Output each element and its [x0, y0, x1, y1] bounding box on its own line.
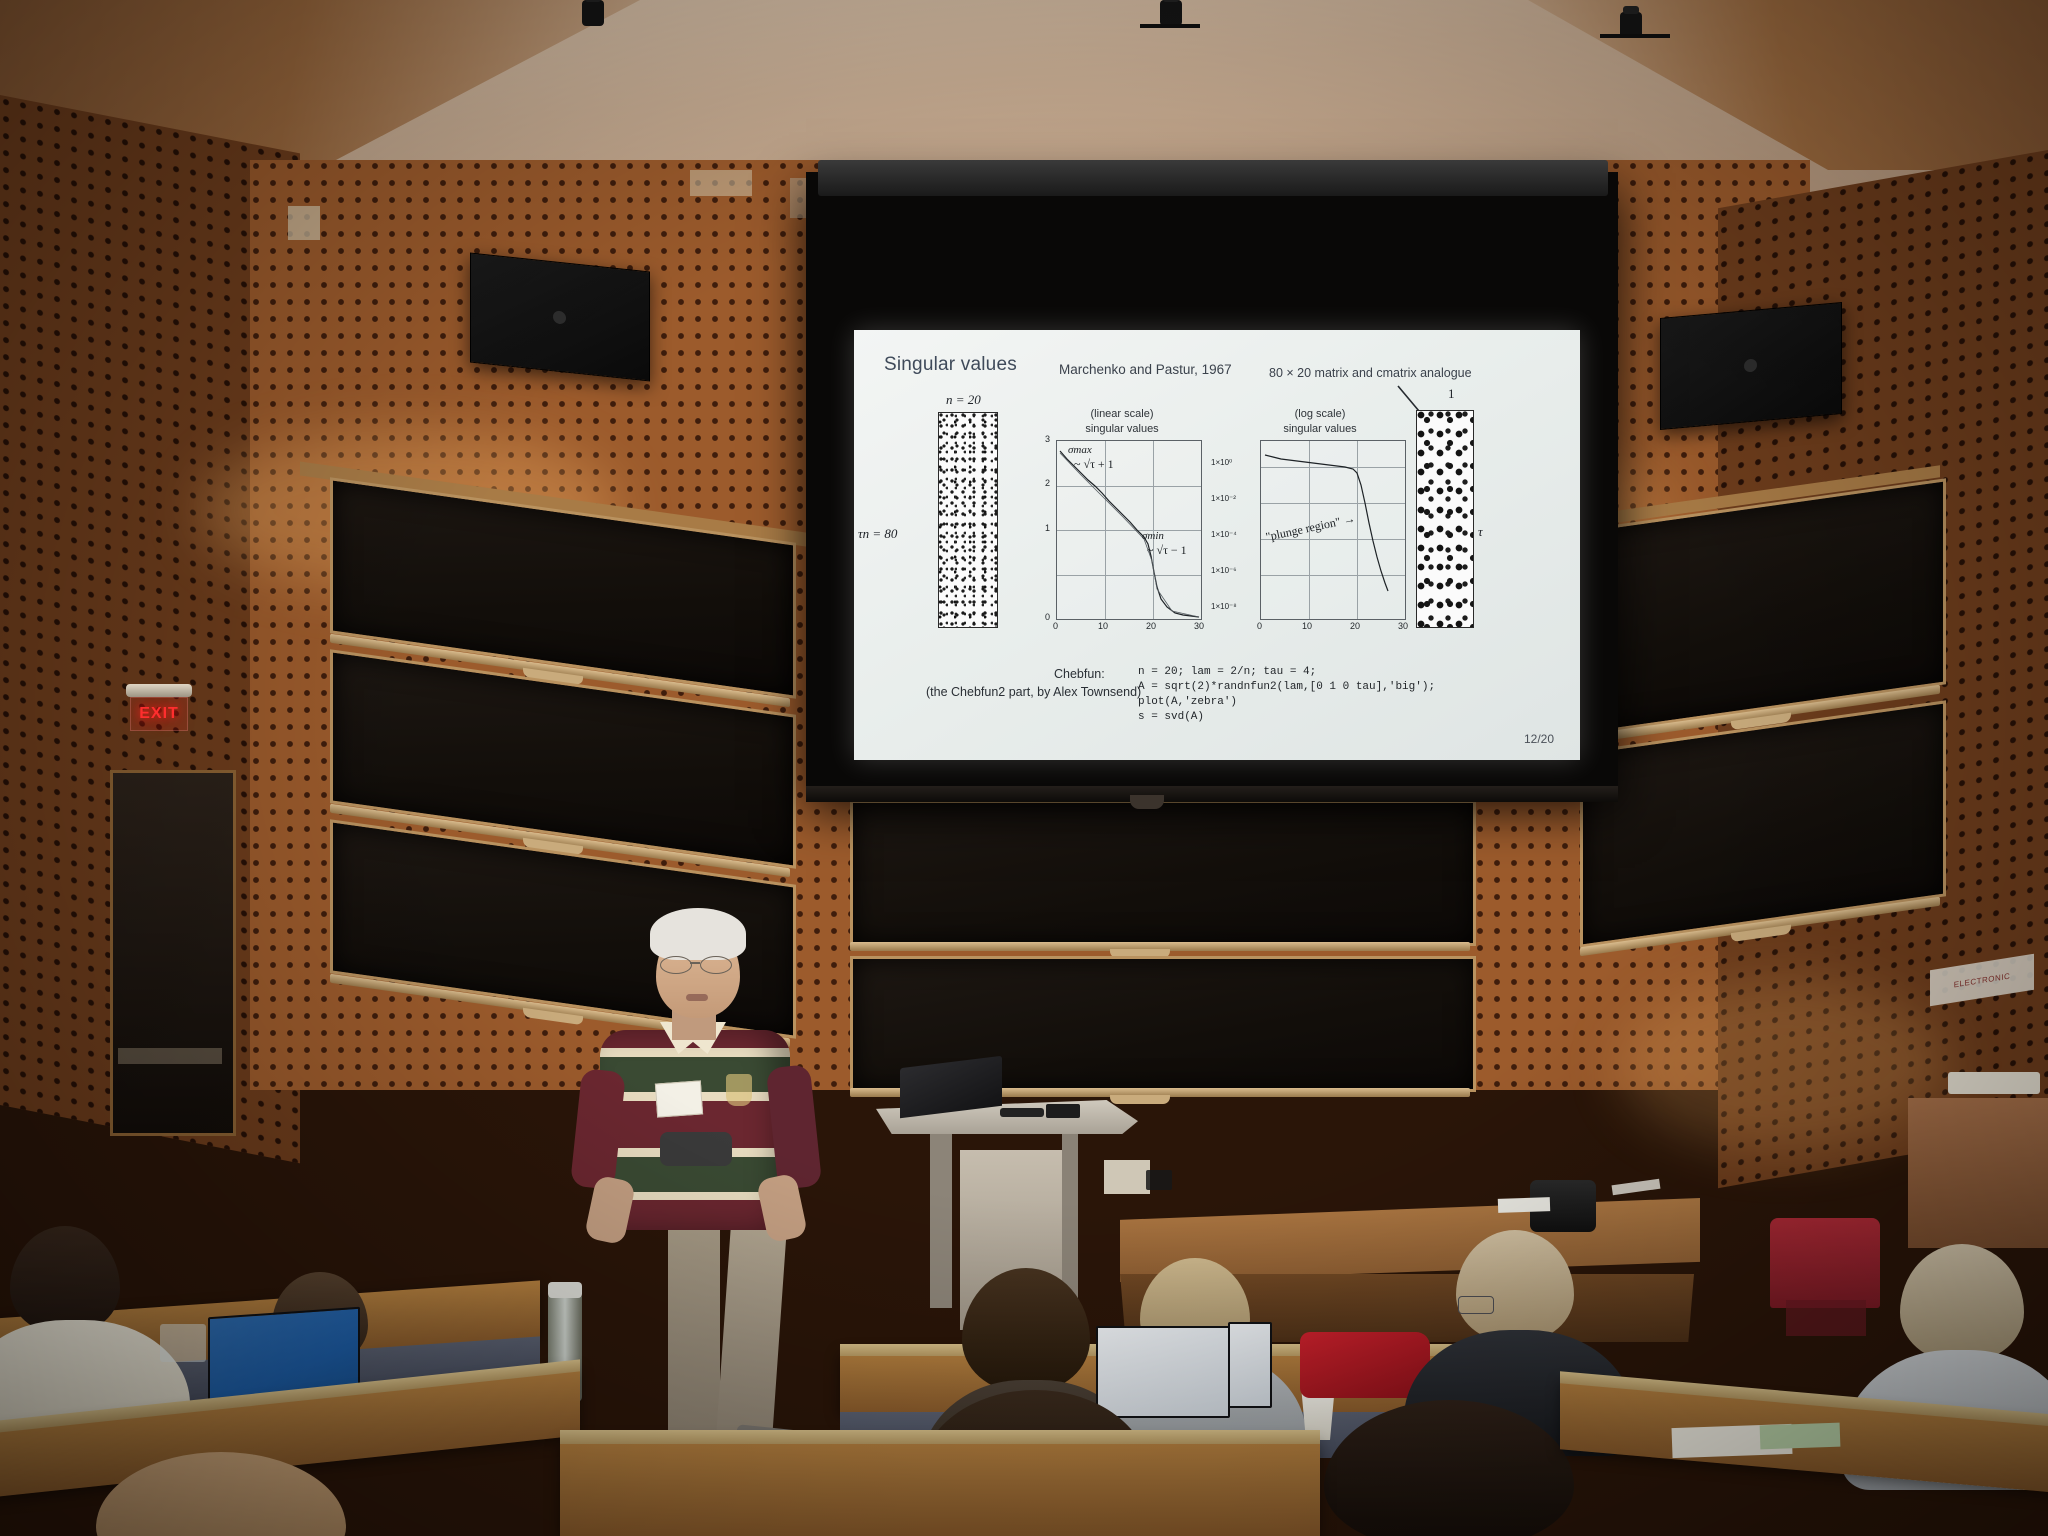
slide-title: Singular values: [884, 354, 1017, 376]
ceiling-vent: [690, 170, 752, 196]
plot-linear-ytick-3: 3: [1045, 434, 1050, 444]
sigma-min-symbol: σmin: [1142, 530, 1164, 542]
right-cmatrix-image: [1416, 410, 1474, 628]
podium-leg-left: [930, 1128, 952, 1308]
podium-cable: [1000, 1108, 1044, 1117]
plot-linear-subtitle: singular values: [1054, 423, 1190, 435]
plot-linear-title: (linear scale): [1054, 408, 1190, 420]
doorway[interactable]: [110, 770, 236, 1136]
sigma-min-formula: ~ √τ − 1: [1147, 543, 1187, 558]
track-light-1: [1160, 0, 1182, 26]
plot-linear-xtick-0: 0: [1053, 621, 1058, 631]
water-bottle-cap-1: [548, 1282, 582, 1298]
presenter-name-badge: [655, 1080, 703, 1117]
podium-leg-right: [1062, 1124, 1078, 1304]
presenter-glasses-bridge: [690, 962, 700, 964]
audience-glasses-5: [1458, 1296, 1494, 1314]
projector-screen-pull-knob: [1130, 795, 1164, 809]
chalk-tray-center-1: [850, 942, 1470, 951]
slide-page-number: 12/20: [1524, 732, 1554, 746]
plot-log-xtick-10: 10: [1302, 621, 1312, 631]
plot-log-xtick-20: 20: [1350, 621, 1360, 631]
plot-linear-ytick-1: 1: [1045, 523, 1050, 533]
plot-log-ytick-6: 1×10⁻⁶: [1211, 566, 1237, 575]
presenter-shirt-crest: [726, 1074, 752, 1106]
plot-linear-ytick-2: 2: [1045, 478, 1050, 488]
left-matrix-side-label: τn = 80: [858, 526, 897, 542]
sigma-max-label: σmax: [1068, 444, 1092, 456]
wall-speaker-left: [470, 253, 650, 382]
sigma-max-symbol: σmax: [1068, 444, 1092, 456]
plot-log-subtitle: singular values: [1252, 423, 1388, 435]
counter-paper-stack: [1948, 1072, 2040, 1094]
track-light-2: [582, 0, 604, 26]
desk-row-bottom: [560, 1438, 1320, 1536]
right-matrix-side-label: τ: [1478, 524, 1483, 540]
audience-green-note: [1760, 1423, 1841, 1450]
microphone-stand: [1612, 1179, 1661, 1196]
plot-linear-xtick-10: 10: [1098, 621, 1108, 631]
red-chair-seat: [1786, 1300, 1866, 1336]
presenter-glasses-right-lens: [700, 956, 732, 974]
red-chair: [1770, 1218, 1880, 1308]
chalkboard-center-top: [850, 800, 1476, 946]
right-matrix-top-label: 1: [1448, 386, 1455, 402]
track-rail-2: [1600, 34, 1670, 38]
exit-sign: EXIT: [130, 697, 188, 731]
podium-side-panel: [1104, 1160, 1150, 1194]
lecture-hall-photo: EXIT ELECTRONIC Singular values Marchenk…: [0, 0, 2048, 1536]
slide-citation: Marchenko and Pastur, 1967: [1059, 362, 1232, 377]
code-line-3: plot(A,'zebra'): [1138, 695, 1237, 710]
plot-log-ytick-4: 1×10⁻⁴: [1211, 530, 1237, 539]
podium-device-box: [1046, 1104, 1080, 1118]
plot-linear-ytick-0: 0: [1045, 612, 1050, 622]
plot-log-title: (log scale): [1252, 408, 1388, 420]
exit-sign-hood: [126, 684, 192, 697]
plot-linear-xtick-30: 30: [1194, 621, 1204, 631]
plot-log-ytick-0: 1×10⁰: [1211, 458, 1232, 467]
plot-log-ytick-8: 1×10⁻⁸: [1211, 602, 1237, 611]
plot-log-xtick-30: 30: [1398, 621, 1408, 631]
presenter-glasses-left-lens: [660, 956, 692, 974]
sigma-max-formula: ~ √τ + 1: [1074, 457, 1114, 472]
code-line-4: s = svd(A): [1138, 710, 1204, 725]
chebfun-label: Chebfun:: [1054, 667, 1105, 681]
plot-log-ytick-2: 1×10⁻²: [1211, 494, 1236, 503]
audience-laptop-3[interactable]: [1228, 1322, 1272, 1408]
desk-row-bottom-edge: [560, 1430, 1320, 1444]
drinking-glass: [160, 1324, 206, 1362]
av-control-box[interactable]: [1146, 1170, 1172, 1190]
slide-note: 80 × 20 matrix and cmatrix analogue: [1269, 366, 1472, 380]
presenter-held-clicker: [660, 1132, 732, 1166]
projector-screen-case: [818, 160, 1608, 196]
presenter-hair: [650, 908, 746, 960]
presenter-mouth: [686, 994, 708, 1001]
wall-speaker-right: [1660, 302, 1842, 430]
table-paper: [1498, 1197, 1550, 1213]
side-counter: [1908, 1098, 2048, 1248]
projector-screen-bottom-bar: [806, 786, 1618, 802]
audience-head-6: [1900, 1244, 2024, 1362]
wall-plate-left: [288, 206, 320, 240]
track-rail-1: [1140, 24, 1200, 28]
code-line-2: A = sqrt(2)*randnfun2(lam,[0 1 0 tau],'b…: [1138, 680, 1435, 695]
door-push-bar[interactable]: [118, 1048, 222, 1064]
code-line-1: n = 20; lam = 2/n; tau = 4;: [1138, 665, 1316, 680]
audience-laptop-2[interactable]: [1096, 1326, 1230, 1418]
plot-linear-xtick-20: 20: [1146, 621, 1156, 631]
chebfun-credit: (the Chebfun2 part, by Alex Townsend): [926, 685, 1141, 699]
presenter-leg-left: [668, 1210, 720, 1460]
left-random-matrix-image: [938, 412, 998, 628]
plot-log-xtick-0: 0: [1257, 621, 1262, 631]
presentation-slide: Singular values Marchenko and Pastur, 19…: [854, 330, 1580, 760]
left-matrix-top-label: n = 20: [946, 392, 981, 408]
audience-head-1: [10, 1226, 120, 1334]
